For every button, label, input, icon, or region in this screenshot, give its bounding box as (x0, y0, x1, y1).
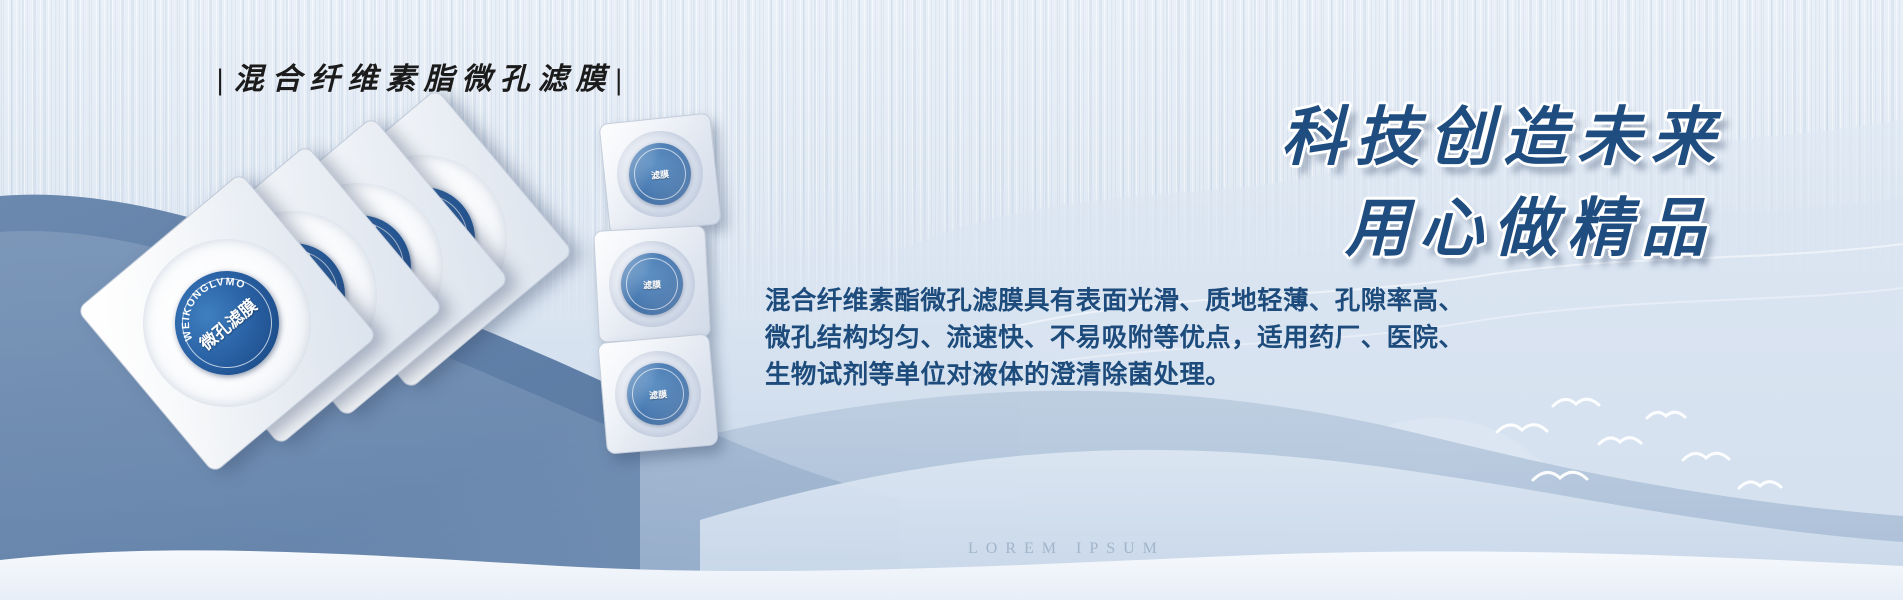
kicker-title: |混合纤维素脂微孔滤膜| (215, 54, 632, 98)
product-stack-left: WEIKONGLVMO 微孔滤膜 WEIKONGLVMO 孔滤膜 (120, 138, 550, 423)
product-banner: WEIKONGLVMO 微孔滤膜 WEIKONGLVMO 孔滤膜 (0, 0, 1903, 600)
membrane-packet[interactable]: 滤膜 (593, 225, 711, 343)
packet-gloss (594, 226, 710, 342)
kicker-bar-left: | (215, 63, 234, 96)
packet-gloss (600, 114, 721, 235)
product-stack-center: 滤膜 滤膜 滤膜 (588, 118, 728, 448)
watermark-text: LOREM IPSUM (968, 540, 1165, 558)
description-line-2: 微孔结构均匀、流速快、不易吸附等优点，适用药厂、医院、 (765, 319, 1455, 356)
description-paragraph: 混合纤维素酯微孔滤膜具有表面光滑、质地轻薄、孔隙率高、 微孔结构均匀、流速快、不… (765, 282, 1455, 393)
packet-gloss (598, 334, 717, 453)
headline-line-1: 科技创造未来 (1281, 86, 1725, 178)
membrane-packet[interactable]: 滤膜 (598, 112, 721, 235)
headline-line-2: 用心做精品 (1345, 177, 1715, 269)
description-line-1: 混合纤维素酯微孔滤膜具有表面光滑、质地轻薄、孔隙率高、 (765, 282, 1455, 319)
kicker-text: 混合纤维素脂微孔滤膜 (234, 63, 614, 96)
birds-icon (1487, 384, 1817, 524)
kicker-bar-right: | (614, 63, 633, 96)
description-line-3: 生物试剂等单位对液体的澄清除菌处理。 (765, 356, 1455, 393)
membrane-packet[interactable]: 滤膜 (597, 333, 718, 454)
